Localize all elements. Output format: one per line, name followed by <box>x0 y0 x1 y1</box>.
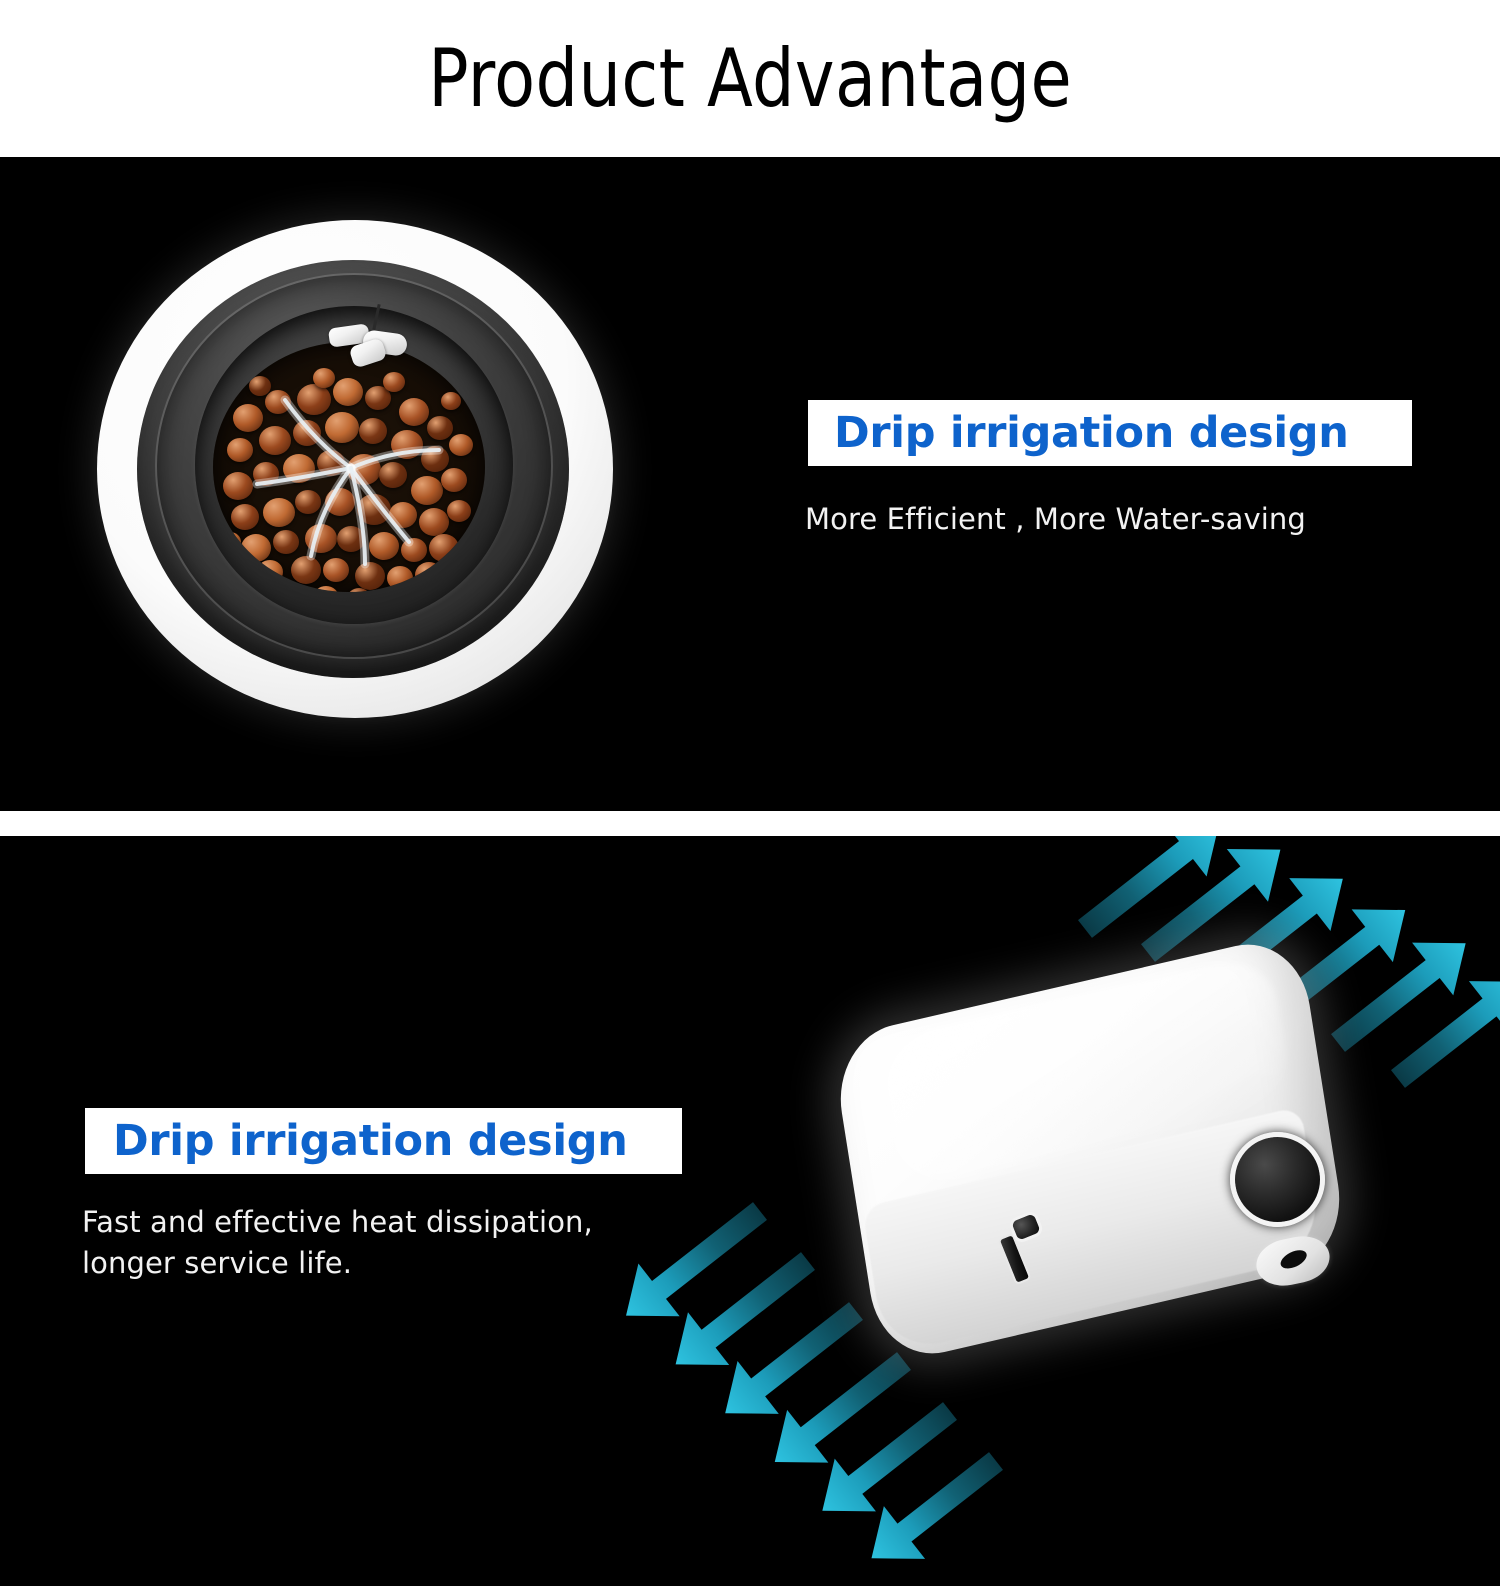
subtitle-line-2: longer service life. <box>82 1243 593 1284</box>
banner-heat-dissipation: Drip irrigation design <box>85 1108 682 1174</box>
banner-label: Drip irrigation design <box>834 412 1349 455</box>
clay-pebble <box>337 526 365 552</box>
clay-pebble <box>323 558 349 582</box>
page-header: Product Advantage <box>0 0 1500 157</box>
clay-pebble <box>421 446 449 472</box>
clay-pebble <box>427 416 453 440</box>
clay-pebble <box>411 476 443 505</box>
clay-pebble <box>379 462 407 488</box>
clay-pebble <box>401 538 427 562</box>
clay-pebble <box>347 454 381 485</box>
clay-pebble <box>305 524 337 553</box>
section-one-subtitle: More Efficient , More Water-saving <box>805 502 1306 536</box>
section-two-subtitle: Fast and effective heat dissipation, lon… <box>82 1202 593 1284</box>
clay-pebble <box>449 434 473 456</box>
clay-pebble <box>257 560 283 584</box>
clay-pebble <box>291 556 321 584</box>
clay-pebble <box>231 504 259 530</box>
section-heat-dissipation: Drip irrigation design Fast and effectiv… <box>0 836 1500 1586</box>
clay-pebble <box>447 500 471 522</box>
clay-pebble <box>457 538 477 556</box>
clay-pebble <box>273 530 299 554</box>
clay-pebble <box>419 508 449 536</box>
clay-pebble <box>325 488 355 516</box>
section-drip-irrigation: Drip irrigation design More Efficient , … <box>0 157 1500 811</box>
clay-pebble <box>253 462 279 486</box>
banner-label: Drip irrigation design <box>113 1120 628 1163</box>
clay-pebble <box>325 412 359 443</box>
clay-pebble <box>227 438 253 462</box>
clay-pebble <box>313 586 339 592</box>
clay-pebble <box>429 534 459 562</box>
hydroponic-pot-image <box>95 220 615 720</box>
clay-pebble <box>389 502 417 528</box>
banner-drip-irrigation: Drip irrigation design <box>808 400 1412 466</box>
clay-pebble <box>399 398 429 426</box>
clay-pebble <box>317 450 345 476</box>
air-pump-image <box>700 836 1500 1586</box>
clay-pebble <box>295 490 321 514</box>
clay-pebble <box>355 562 385 590</box>
clay-pebble <box>249 376 271 396</box>
pot-basket <box>213 342 485 592</box>
clay-pebble <box>369 532 399 560</box>
clay-pebble <box>415 562 443 588</box>
clay-pebble <box>441 468 467 492</box>
pump-air-nozzle <box>1000 1214 1046 1288</box>
clay-pebble <box>357 494 391 525</box>
clay-pebble <box>259 426 291 455</box>
page-title: Product Advantage <box>428 39 1072 119</box>
clay-pebble <box>359 418 387 444</box>
advertisement-page: Product Advantage Drip irrigation design… <box>0 0 1500 1586</box>
section-divider <box>0 811 1500 836</box>
clay-pebble <box>233 404 263 432</box>
clay-pebble <box>263 498 295 527</box>
clay-pebble <box>383 372 405 392</box>
clay-pebble <box>313 368 335 388</box>
clay-pebble <box>219 532 241 552</box>
clay-pebble <box>279 582 303 592</box>
clay-pebble <box>283 454 315 483</box>
clay-pebble <box>297 384 331 415</box>
clay-pebble <box>223 472 253 500</box>
clay-pebble <box>333 378 363 406</box>
clay-pebble <box>293 420 321 446</box>
drip-fitting-icon <box>329 324 407 368</box>
clay-pebble <box>241 534 271 562</box>
clay-pebble <box>391 430 423 459</box>
subtitle-line-1: Fast and effective heat dissipation, <box>82 1202 593 1243</box>
clay-pebble <box>441 392 461 410</box>
clay-pebble <box>265 390 291 414</box>
